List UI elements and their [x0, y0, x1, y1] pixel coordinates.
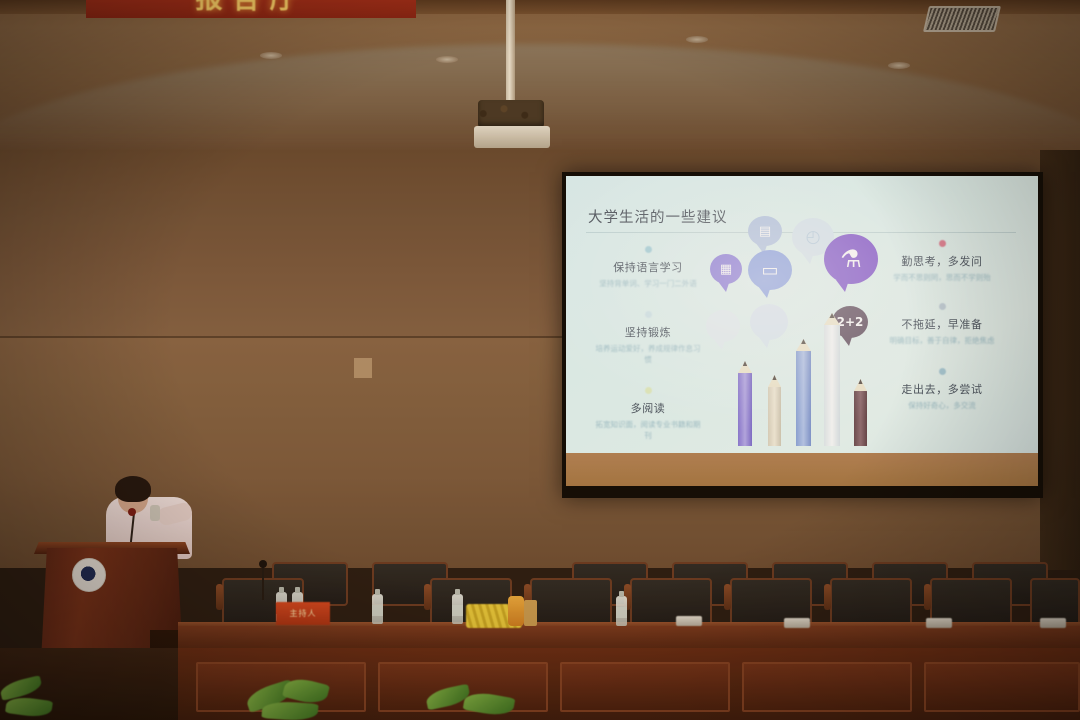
bottle-label [452, 605, 463, 616]
water-bottle [452, 594, 463, 624]
advice-subtext: 学而不思则罔，思而不学则殆 [886, 272, 998, 283]
pencil-maroon-icon [854, 390, 867, 446]
screen-surface: 大学生活的一些建议 保持语言学习 坚持背单词、学习一门二外语 坚持锻炼 培养运动… [566, 176, 1038, 486]
presentation-slide: 大学生活的一些建议 保持语言学习 坚持背单词、学习一门二外语 坚持锻炼 培养运动… [566, 176, 1038, 453]
hall-banner-text: 报告厅 [86, 0, 416, 16]
blank-bubble-icon [750, 304, 788, 340]
table-front-panel [742, 662, 912, 712]
plant-leaf [261, 700, 318, 720]
projector-mount-pole [506, 0, 515, 108]
chair [830, 578, 912, 626]
water-bottle [616, 596, 627, 626]
chair-arm [824, 584, 831, 610]
place-card [784, 618, 810, 628]
lecture-hall-photo: 报告厅 大学生活的一些建议 保持语言学习 坚持背单词、学习一门二外语 [0, 0, 1080, 720]
plant-leaf [5, 695, 53, 719]
podium-microphone-icon [128, 508, 136, 516]
emblem-inner [78, 564, 100, 586]
pencil-blue-icon [796, 350, 811, 446]
potted-plant [420, 682, 530, 720]
slide-illustration: ▤ ◴ ▦ ▭ ⚗ 2+2 [704, 210, 894, 446]
pencil-white-icon [824, 324, 840, 446]
chair-arm [216, 584, 223, 610]
advice-heading: 坚持锻炼 [592, 324, 704, 340]
water-bottle [372, 594, 383, 624]
pencil-nib [801, 339, 806, 344]
flask-icon: ⚗ [824, 234, 878, 284]
bottle-label [616, 607, 627, 618]
projection-screen: 大学生活的一些建议 保持语言学习 坚持背单词、学习一门二外语 坚持锻炼 培养运动… [562, 172, 1043, 498]
advice-heading: 走出去，多尝试 [886, 381, 998, 397]
table-front-panel [560, 662, 730, 712]
slide-right-column: 勤思考，多发问 学而不思则罔，思而不学则殆 不拖延，早准备 明确目标，善于自律，… [886, 240, 998, 420]
ceiling-air-vent-icon [923, 6, 1001, 32]
downlight-icon [260, 52, 282, 59]
hall-banner: 报告厅 [86, 0, 416, 18]
name-card: 主持人 [276, 602, 330, 625]
chair-arm [424, 584, 431, 610]
downlight-icon [888, 62, 910, 69]
advice-item: 走出去，多尝试 保持好奇心，多交流 [886, 368, 998, 411]
advice-subtext: 坚持背单词、学习一门二外语 [592, 278, 704, 289]
blank-bubble-icon [706, 310, 740, 342]
advice-subtext: 培养运动爱好，养成规律作息习惯 [592, 343, 704, 365]
projector-cables [472, 104, 552, 120]
pencil-nib [772, 375, 776, 380]
ceiling-projector-icon [474, 126, 550, 148]
advice-heading: 勤思考，多发问 [886, 253, 998, 269]
notebook-icon: ▤ [748, 216, 782, 246]
advice-item: 保持语言学习 坚持背单词、学习一门二外语 [592, 246, 704, 289]
pencil-cream-icon [768, 386, 781, 446]
bullet-dot-icon [645, 311, 652, 318]
notebook-bubble-icon: ▤ [748, 216, 782, 246]
screen-lower-band [566, 453, 1038, 486]
laptop-bubble-icon: ▭ [748, 250, 792, 290]
chair-arm [924, 584, 931, 610]
desk-microphone-icon [262, 566, 264, 600]
potted-plant [0, 672, 70, 720]
advice-item: 不拖延，早准备 明确目标，善于自律，拒绝焦虑 [886, 303, 998, 346]
wall-access-panel [354, 358, 372, 378]
advice-item: 勤思考，多发问 学而不思则罔，思而不学则殆 [886, 240, 998, 283]
bullet-dot-icon [645, 246, 652, 253]
bullet-dot-icon [645, 387, 652, 394]
chair [530, 578, 612, 626]
advice-heading: 不拖延，早准备 [886, 316, 998, 332]
advice-item: 多阅读 拓宽知识面，阅读专业书籍和期刊 [592, 387, 704, 441]
chair-arm [724, 584, 731, 610]
potted-plant [236, 676, 356, 720]
bullet-dot-icon [939, 368, 946, 375]
flask-bubble-icon: ⚗ [824, 234, 878, 284]
advice-subtext: 拓宽知识面，阅读专业书籍和期刊 [592, 419, 704, 441]
university-emblem-icon [72, 558, 106, 592]
advice-heading: 保持语言学习 [592, 259, 704, 275]
downlight-icon [686, 36, 708, 43]
calendar-bubble-icon: ▦ [710, 254, 742, 284]
pencil-nib [743, 361, 747, 366]
bottle-label [372, 605, 383, 616]
advice-item: 坚持锻炼 培养运动爱好，养成规律作息习惯 [592, 311, 704, 365]
table-front-panel [924, 662, 1080, 712]
presenter-hair [115, 476, 151, 502]
desk-box [524, 600, 537, 626]
calendar-icon: ▦ [710, 254, 742, 284]
laptop-icon: ▭ [748, 250, 792, 290]
pencil-purple-icon [738, 372, 752, 446]
advice-heading: 多阅读 [592, 400, 704, 416]
place-card [1040, 618, 1066, 628]
advice-subtext: 明确目标，善于自律，拒绝焦虑 [886, 335, 998, 346]
plant-leaf [463, 690, 516, 718]
wall-right-dark-column [1040, 150, 1080, 570]
presenter-remote [150, 505, 160, 521]
bullet-dot-icon [939, 240, 946, 247]
place-card [926, 618, 952, 628]
bullet-dot-icon [939, 303, 946, 310]
slide-left-column: 保持语言学习 坚持背单词、学习一门二外语 坚持锻炼 培养运动爱好，养成规律作息习… [592, 246, 704, 450]
place-card [676, 616, 702, 626]
desk-mascot-icon [508, 596, 524, 626]
downlight-icon [436, 56, 458, 63]
advice-subtext: 保持好奇心，多交流 [886, 400, 998, 411]
pencil-nib [858, 379, 862, 384]
